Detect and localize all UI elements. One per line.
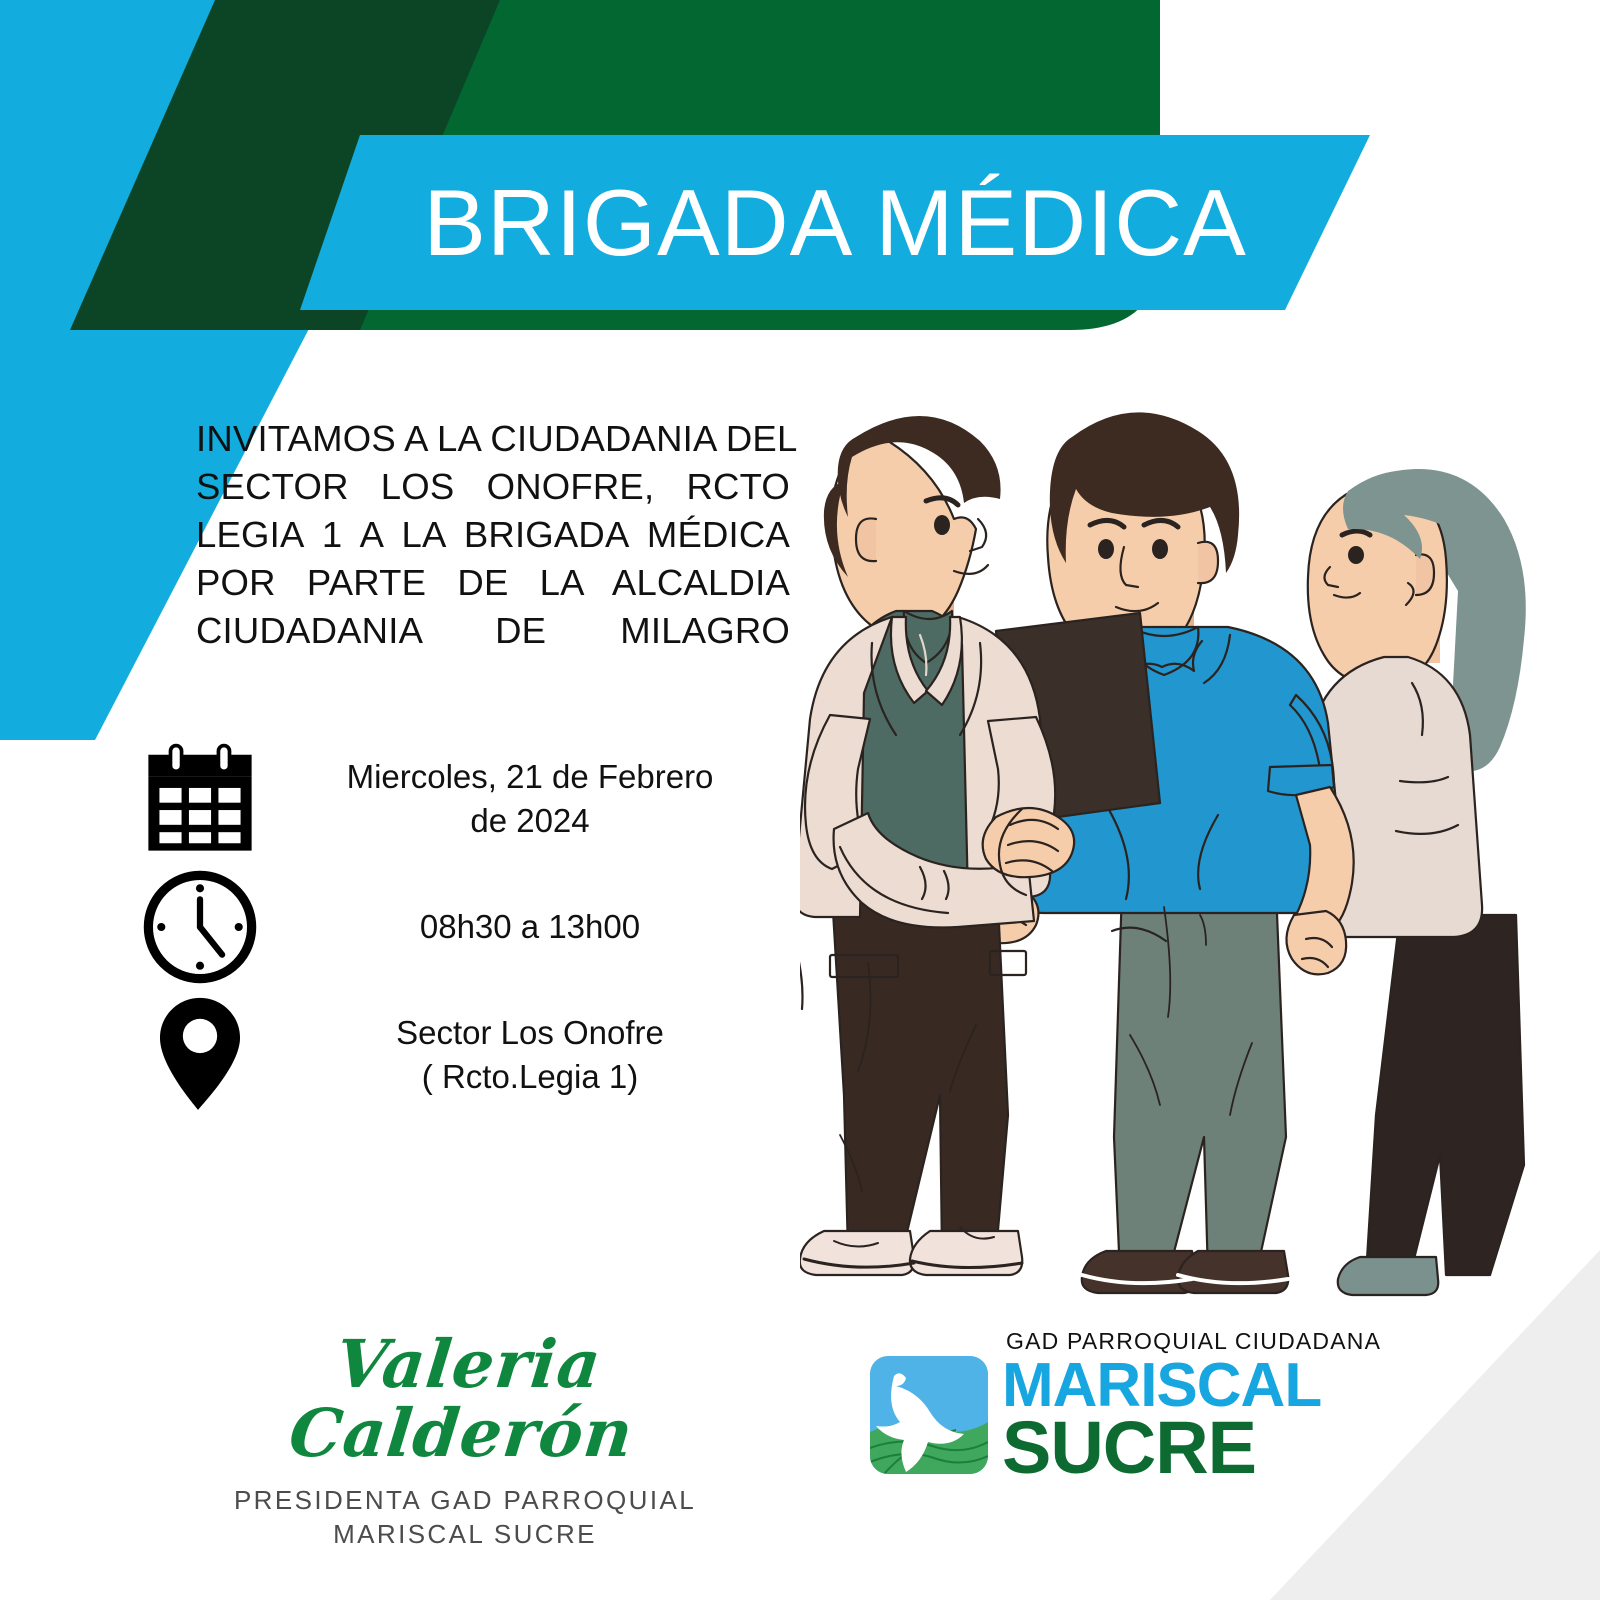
intro-paragraph: INVITAMOS A LA CIUDADANIA DEL SECTOR LOS… [196, 415, 790, 655]
intro-line-2: SECTOR LOS ONOFRE, RCTO [196, 463, 790, 511]
date-line-2: de 2024 [280, 799, 780, 843]
logo-wordmark: GAD PARROQUIAL CIUDADANA MARISCAL SUCRE [1002, 1330, 1381, 1485]
intro-line-3: LEGIA 1 A LA BRIGADA MÉDICA [196, 511, 790, 559]
detail-text-time: 08h30 a 13h00 [280, 905, 780, 949]
intro-line-1: INVITAMOS A LA CIUDADANIA DEL [196, 415, 790, 463]
signature-role-line-2: MARISCAL SUCRE [200, 1517, 730, 1551]
intro-line-4: POR PARTE DE LA ALCALDIA [196, 559, 790, 607]
signature-name: Valeria Calderón [193, 1330, 738, 1469]
mariscal-sucre-logo: GAD PARROQUIAL CIUDADANA MARISCAL SUCRE [870, 1330, 1381, 1485]
logo-word-sucre: SUCRE [1002, 1411, 1381, 1485]
detail-row-location: Sector Los Onofre ( Rcto.Legia 1) [120, 991, 780, 1119]
event-details-list: Miercoles, 21 de Febrero de 2024 08h30 a… [120, 735, 780, 1119]
doctor-figure [800, 416, 1074, 1275]
time-line-1: 08h30 a 13h00 [280, 905, 780, 949]
logo-tagline: GAD PARROQUIAL CIUDADANA [1006, 1330, 1381, 1353]
flying-bird-over-fields-icon [870, 1356, 988, 1474]
detail-text-date: Miercoles, 21 de Febrero de 2024 [280, 755, 780, 843]
date-line-1: Miercoles, 21 de Febrero [280, 755, 780, 799]
signature-role-line-1: PRESIDENTA GAD PARROQUIAL [200, 1483, 730, 1517]
calendar-icon [120, 740, 280, 858]
detail-row-time: 08h30 a 13h00 [120, 863, 780, 991]
clock-icon [120, 868, 280, 986]
poster-canvas: BRIGADA MÉDICA INVITAMOS A LA CIUDADANIA… [0, 0, 1600, 1600]
intro-line-5: CIUDADANIA DE MILAGRO [196, 607, 790, 655]
location-line-2: ( Rcto.Legia 1) [280, 1055, 780, 1099]
location-pin-icon [120, 994, 280, 1116]
signature-block: Valeria Calderón PRESIDENTA GAD PARROQUI… [200, 1330, 730, 1551]
location-line-1: Sector Los Onofre [280, 1011, 780, 1055]
three-people-medical-consultation-illustration [800, 395, 1590, 1305]
signature-role: PRESIDENTA GAD PARROQUIAL MARISCAL SUCRE [200, 1483, 730, 1551]
detail-row-date: Miercoles, 21 de Febrero de 2024 [120, 735, 780, 863]
page-title: BRIGADA MÉDICA [300, 135, 1370, 310]
detail-text-location: Sector Los Onofre ( Rcto.Legia 1) [280, 1011, 780, 1099]
